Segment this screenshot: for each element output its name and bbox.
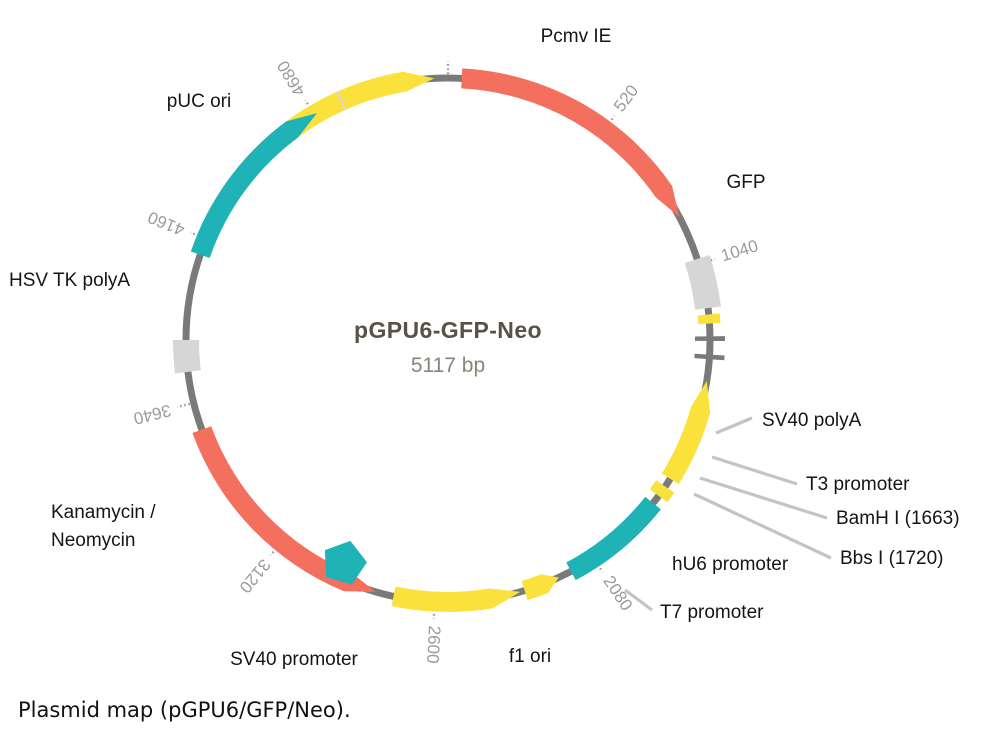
tick-label-2600: 2600 [423,625,444,664]
tick-label-4680: 4680 [273,57,309,99]
plasmid-name-title: pGPU6-GFP-Neo [354,317,542,343]
tick-mark [177,404,190,407]
feature-f1-ori[interactable] [566,497,661,580]
feature-unnamed-small-arrow[interactable] [522,574,559,600]
feature-t3-promoter[interactable] [698,313,721,324]
plasmid-map-figure: 5201040208026003120364041604680 Pcmv IEG… [0,0,982,744]
feature-sv40-polya[interactable] [685,255,721,310]
feature-label-t3-promoter: T3 promoter [806,474,910,495]
leader-line-bbs-i-1720 [694,494,831,558]
leader-line-sv40-polya [716,418,752,433]
plasmid-map-svg: 5201040208026003120364041604680 Pcmv IEG… [0,0,982,744]
feature-puc-ori[interactable] [191,113,317,258]
feature-label-f1-ori: f1 ori [509,646,551,667]
feature-label-bamh-i-1663: BamH I (1663) [836,508,960,529]
tick-label-3640: 3640 [132,401,173,429]
feature-hu6-promoter[interactable] [662,381,710,484]
feature-label-kanamycin-neomycin-line2: Neomycin [51,530,135,551]
feature-label-bbs-i-1720: Bbs I (1720) [840,548,944,569]
feature-label-kanamycin-neomycin: Kanamycin / [51,502,156,523]
feature-gfp[interactable] [461,68,679,217]
feature-pcmv-ie[interactable] [225,72,434,196]
feature-label-puc-ori: pUC ori [167,91,231,112]
feature-label-sv40-promoter: SV40 promoter [230,649,358,670]
feature-label-hu6-promoter: hU6 promoter [672,554,789,575]
figure-caption: Plasmid map (pGPU6/GFP/Neo). [18,698,351,722]
tick-label-1040: 1040 [719,236,761,265]
feature-label-t7-promoter: T7 promoter [660,602,764,623]
tick-label-4160: 4160 [145,207,187,239]
feature-sv40-promoter[interactable] [391,586,520,612]
pentagon-marker[interactable] [325,541,367,585]
feature-bamh-i-1663[interactable] [695,336,725,341]
floating-markers [325,541,367,585]
plasmid-size-label: 5117 bp [411,354,485,377]
feature-label-sv40-polya: SV40 polyA [762,410,862,431]
feature-labels: Pcmv IEGFPSV40 polyAT3 promoterBamH I (1… [9,26,960,670]
feature-label-pcmv-ie: Pcmv IE [541,26,612,47]
tick-label-3120: 3120 [235,555,274,596]
feature-label-gfp: GFP [726,172,765,193]
leader-line-t3-promoter [712,457,797,484]
tick-label-520: 520 [610,81,642,115]
feature-label-hsv-tk-polya: HSV TK polyA [9,270,130,291]
feature-hsv-tk-polya[interactable] [173,340,201,374]
